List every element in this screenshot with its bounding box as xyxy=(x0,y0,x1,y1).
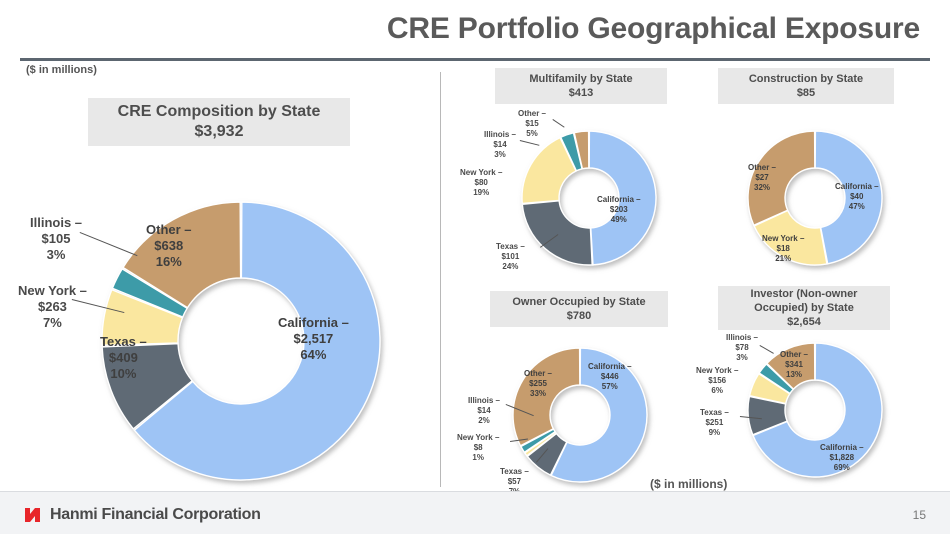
pie-label-cre-composition-illinois: Illinois –$1053% xyxy=(30,215,82,263)
label-name: Other – xyxy=(524,369,552,379)
label-amount: $263 xyxy=(18,299,87,315)
label-name: Texas – xyxy=(700,408,729,418)
label-name: Other – xyxy=(748,163,776,173)
label-name: California – xyxy=(820,443,864,453)
pie-label-construction-new-york: New York –$1821% xyxy=(762,234,804,263)
label-name: New York – xyxy=(18,283,87,299)
label-amount: $40 xyxy=(835,192,879,202)
chart-header-owner-occupied: Owner Occupied by State $780 xyxy=(490,291,668,327)
label-name: Texas – xyxy=(100,334,147,350)
label-percent: 24% xyxy=(496,262,525,272)
label-amount: $80 xyxy=(460,178,502,188)
label-percent: 47% xyxy=(835,202,879,212)
label-name: Texas – xyxy=(496,242,525,252)
pie-label-multifamily-other: Other –$155% xyxy=(518,109,546,138)
chart-header-line1: CRE Composition by State xyxy=(118,102,321,122)
label-percent: 21% xyxy=(762,254,804,264)
label-amount: $14 xyxy=(484,140,516,150)
label-amount: $78 xyxy=(726,343,758,353)
label-percent: 69% xyxy=(820,463,864,473)
slide: CRE Portfolio Geographical Exposure ($ i… xyxy=(0,0,950,534)
chart-header-line1: Multifamily by State xyxy=(529,72,632,86)
label-name: Other – xyxy=(518,109,546,119)
label-amount: $105 xyxy=(30,231,82,247)
pie-label-owner-occupied-new-york: New York –$81% xyxy=(457,433,499,462)
chart-header-line1: Owner Occupied by State xyxy=(512,295,645,309)
pie-label-cre-composition-other: Other –$63816% xyxy=(146,222,192,270)
chart-header-line2: $780 xyxy=(567,309,591,323)
label-amount: $251 xyxy=(700,418,729,428)
hanmi-logo-icon xyxy=(24,505,44,525)
section-divider xyxy=(440,72,441,487)
label-percent: 10% xyxy=(100,366,147,382)
page-number: 15 xyxy=(913,508,926,522)
label-percent: 1% xyxy=(457,453,499,463)
label-amount: $8 xyxy=(457,443,499,453)
pie-label-investor-other: Other –$34113% xyxy=(780,350,808,379)
label-name: Texas – xyxy=(500,467,529,477)
chart-header-construction: Construction by State $85 xyxy=(718,68,894,104)
units-note-left: ($ in millions) xyxy=(26,64,97,76)
label-percent: 19% xyxy=(460,188,502,198)
label-percent: 2% xyxy=(468,416,500,426)
title-divider xyxy=(20,58,930,61)
pie-label-cre-composition-new-york: New York –$2637% xyxy=(18,283,87,331)
pie-label-cre-composition-texas: Texas –$40910% xyxy=(100,334,147,382)
pie-label-multifamily-california: California –$20349% xyxy=(597,195,641,224)
label-amount: $101 xyxy=(496,252,525,262)
label-percent: 7% xyxy=(18,315,87,331)
label-amount: $203 xyxy=(597,205,641,215)
label-percent: 16% xyxy=(146,254,192,270)
label-percent: 49% xyxy=(597,215,641,225)
pie-label-investor-illinois: Illinois –$783% xyxy=(726,333,758,362)
label-amount: $18 xyxy=(762,244,804,254)
units-note-right: ($ in millions) xyxy=(650,477,727,491)
label-name: New York – xyxy=(460,168,502,178)
chart-header-line2: $3,932 xyxy=(195,122,244,142)
label-name: New York – xyxy=(696,366,738,376)
label-percent: 5% xyxy=(518,129,546,139)
chart-header-line2: Occupied) by State xyxy=(754,301,854,315)
label-percent: 9% xyxy=(700,428,729,438)
label-name: Illinois – xyxy=(484,130,516,140)
pie-label-construction-other: Other –$2732% xyxy=(748,163,776,192)
label-amount: $255 xyxy=(524,379,552,389)
chart-header-line2: $413 xyxy=(569,86,593,100)
pie-label-investor-new-york: New York –$1566% xyxy=(696,366,738,395)
label-name: California – xyxy=(588,362,632,372)
pie-label-multifamily-illinois: Illinois –$143% xyxy=(484,130,516,159)
label-amount: $57 xyxy=(500,477,529,487)
page-title: CRE Portfolio Geographical Exposure xyxy=(387,12,920,46)
pie-label-investor-california: California –$1,82869% xyxy=(820,443,864,472)
label-name: Illinois – xyxy=(30,215,82,231)
donut-chart-investor xyxy=(745,340,885,480)
label-percent: 33% xyxy=(524,389,552,399)
label-percent: 64% xyxy=(278,347,349,363)
chart-header-line1: Construction by State xyxy=(749,72,863,86)
pie-label-construction-california: California –$4047% xyxy=(835,182,879,211)
label-name: Other – xyxy=(146,222,192,238)
label-percent: 3% xyxy=(726,353,758,363)
label-leader-line xyxy=(552,119,564,128)
label-percent: 57% xyxy=(588,382,632,392)
pie-label-owner-occupied-illinois: Illinois –$142% xyxy=(468,396,500,425)
pie-label-multifamily-texas: Texas –$10124% xyxy=(496,242,525,271)
label-name: Illinois – xyxy=(726,333,758,343)
label-amount: $1,828 xyxy=(820,453,864,463)
label-percent: 6% xyxy=(696,386,738,396)
pie-label-owner-occupied-california: California –$44657% xyxy=(588,362,632,391)
chart-header-line1: Investor (Non-owner xyxy=(751,287,858,301)
label-name: California – xyxy=(597,195,641,205)
label-amount: $446 xyxy=(588,372,632,382)
brand-logo: Hanmi Financial Corporation xyxy=(24,505,261,525)
label-name: Other – xyxy=(780,350,808,360)
label-percent: 3% xyxy=(30,247,82,263)
label-name: New York – xyxy=(457,433,499,443)
label-name: California – xyxy=(278,315,349,331)
pie-label-multifamily-new-york: New York –$8019% xyxy=(460,168,502,197)
label-amount: $638 xyxy=(146,238,192,254)
label-amount: $14 xyxy=(468,406,500,416)
label-percent: 3% xyxy=(484,150,516,160)
label-percent: 13% xyxy=(780,370,808,380)
label-amount: $341 xyxy=(780,360,808,370)
pie-label-cre-composition-california: California –$2,51764% xyxy=(278,315,349,363)
label-amount: $409 xyxy=(100,350,147,366)
chart-header-line3: $2,654 xyxy=(787,315,821,329)
label-name: Illinois – xyxy=(468,396,500,406)
label-percent: 32% xyxy=(748,183,776,193)
label-amount: $2,517 xyxy=(278,331,349,347)
label-amount: $27 xyxy=(748,173,776,183)
chart-header-cre-composition: CRE Composition by State $3,932 xyxy=(88,98,350,146)
label-amount: $15 xyxy=(518,119,546,129)
chart-header-line2: $85 xyxy=(797,86,815,100)
chart-header-investor: Investor (Non-owner Occupied) by State $… xyxy=(718,286,890,330)
label-amount: $156 xyxy=(696,376,738,386)
pie-label-investor-texas: Texas –$2519% xyxy=(700,408,729,437)
chart-header-multifamily: Multifamily by State $413 xyxy=(495,68,667,104)
pie-label-owner-occupied-other: Other –$25533% xyxy=(524,369,552,398)
brand-name: Hanmi Financial Corporation xyxy=(50,506,261,524)
label-name: California – xyxy=(835,182,879,192)
label-name: New York – xyxy=(762,234,804,244)
